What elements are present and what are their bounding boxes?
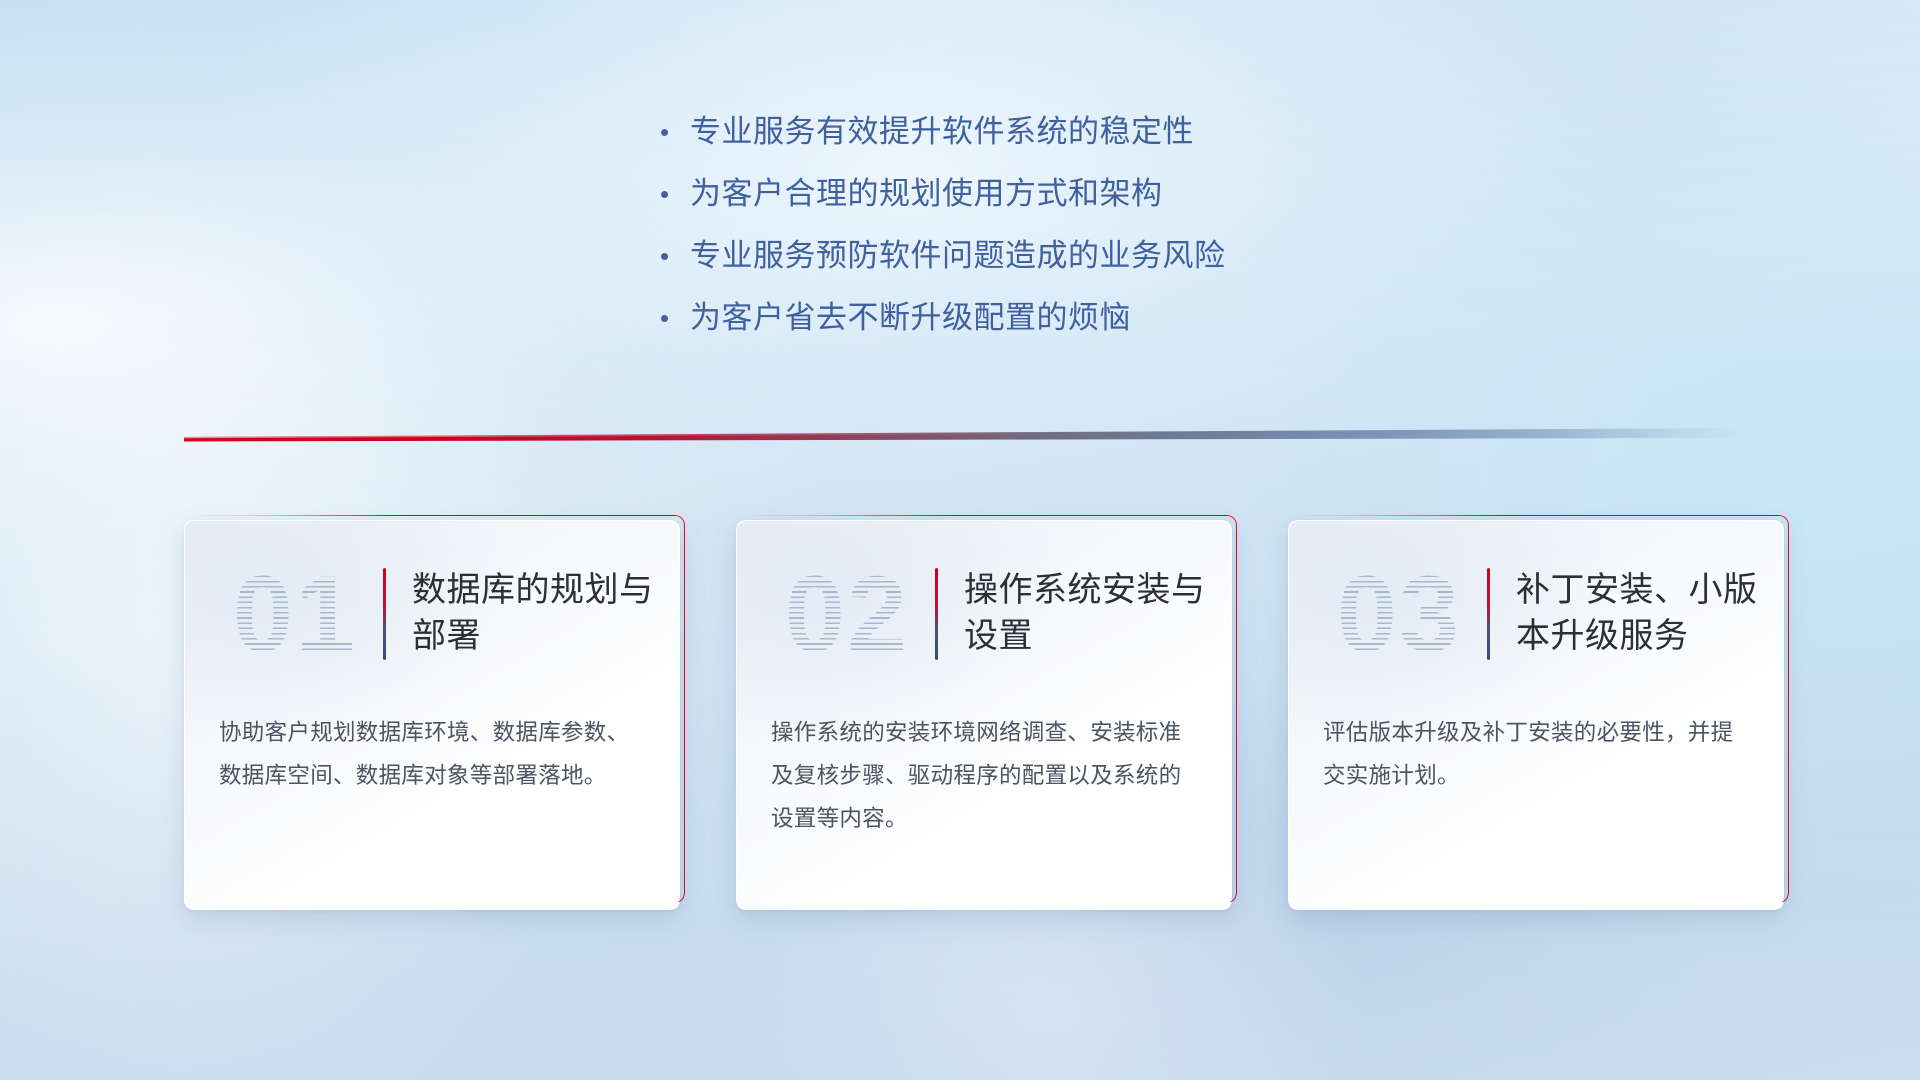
card-surface: 02 操作系统安装与设置 操作系统的安装环境网络调查、安装标准及复核步骤、驱动程… <box>737 521 1231 909</box>
list-item: • 专业服务预防软件问题造成的业务风险 <box>660 236 1420 276</box>
card-header: 03 补丁安装、小版本升级服务 <box>1289 521 1783 707</box>
card-title-rule-icon <box>1487 568 1490 660</box>
card-title: 数据库的规划与部署 <box>412 568 679 659</box>
bullet-text: 专业服务有效提升软件系统的稳定性 <box>690 112 1194 152</box>
card-body-text: 操作系统的安装环境网络调查、安装标准及复核步骤、驱动程序的配置以及系统的设置等内… <box>737 707 1231 841</box>
bullet-dot-icon: • <box>660 174 690 214</box>
card-title: 补丁安装、小版本升级服务 <box>1516 568 1783 659</box>
bullet-text: 为客户合理的规划使用方式和架构 <box>690 174 1163 214</box>
section-divider <box>184 428 1744 444</box>
card-number-text: 02 <box>785 560 909 668</box>
bullet-dot-icon: • <box>660 112 690 152</box>
bullet-text: 专业服务预防软件问题造成的业务风险 <box>690 236 1226 276</box>
card-body-text: 评估版本升级及补丁安装的必要性，并提交实施计划。 <box>1289 707 1783 797</box>
list-item: • 为客户省去不断升级配置的烦恼 <box>660 298 1420 338</box>
card-title-rule-icon <box>383 568 386 660</box>
bullet-text: 为客户省去不断升级配置的烦恼 <box>690 298 1131 338</box>
card-body-text: 协助客户规划数据库环境、数据库参数、数据库空间、数据库对象等部署落地。 <box>185 707 679 797</box>
card-header: 01 数据库的规划与部署 <box>185 521 679 707</box>
card-number-text: 01 <box>233 560 357 668</box>
list-item: • 为客户合理的规划使用方式和架构 <box>660 174 1420 214</box>
service-card-03[interactable]: 03 补丁安装、小版本升级服务 评估版本升级及补丁安装的必要性，并提交实施计划。 <box>1288 520 1784 910</box>
card-number-striped: 01 <box>211 560 379 668</box>
service-card-02[interactable]: 02 操作系统安装与设置 操作系统的安装环境网络调查、安装标准及复核步骤、驱动程… <box>736 520 1232 910</box>
bullet-dot-icon: • <box>660 236 690 276</box>
card-header: 02 操作系统安装与设置 <box>737 521 1231 707</box>
card-title: 操作系统安装与设置 <box>964 568 1231 659</box>
card-number-text: 03 <box>1337 560 1461 668</box>
benefits-bullet-list: • 专业服务有效提升软件系统的稳定性 • 为客户合理的规划使用方式和架构 • 专… <box>660 112 1420 360</box>
card-title-rule-icon <box>935 568 938 660</box>
card-surface: 01 数据库的规划与部署 协助客户规划数据库环境、数据库参数、数据库空间、数据库… <box>185 521 679 909</box>
service-card-01[interactable]: 01 数据库的规划与部署 协助客户规划数据库环境、数据库参数、数据库空间、数据库… <box>184 520 680 910</box>
card-surface: 03 补丁安装、小版本升级服务 评估版本升级及补丁安装的必要性，并提交实施计划。 <box>1289 521 1783 909</box>
card-number-striped: 02 <box>763 560 931 668</box>
service-card-row: 01 数据库的规划与部署 协助客户规划数据库环境、数据库参数、数据库空间、数据库… <box>184 520 1784 910</box>
bullet-dot-icon: • <box>660 298 690 338</box>
list-item: • 专业服务有效提升软件系统的稳定性 <box>660 112 1420 152</box>
card-number-striped: 03 <box>1315 560 1483 668</box>
